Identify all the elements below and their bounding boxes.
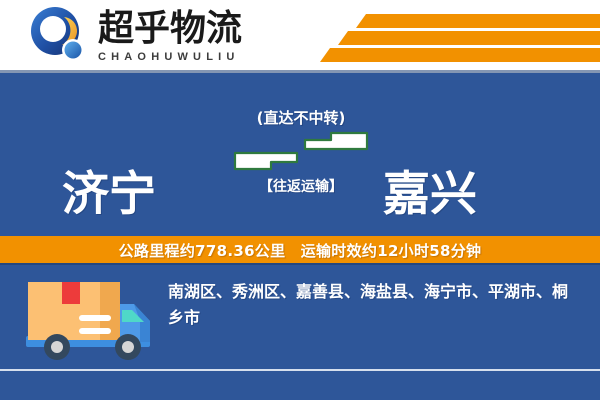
round-trip-note: 【往返运输】 (228, 179, 374, 196)
destination-city: 嘉兴 (383, 169, 477, 221)
delivery-truck-icon (22, 274, 162, 369)
brand-name-en: CHAOHUWULIU (98, 50, 242, 64)
circle-q-logo-icon (28, 5, 90, 67)
coverage-areas-text: 南湖区、秀洲区、嘉善县、海盐县、海宁市、平湖市、桐乡市 (168, 279, 580, 331)
route-arrow-group: (直达不中转) 【往返运输】 (228, 109, 374, 219)
brand-logo-text: 超乎物流 CHAOHUWULIU (98, 9, 242, 64)
bottom-divider (0, 369, 600, 371)
banner-header: 超乎物流 CHAOHUWULIU (0, 0, 600, 73)
brand-name-cn: 超乎物流 (98, 9, 242, 49)
brand-logo: 超乎物流 CHAOHUWULIU (28, 5, 242, 67)
direct-route-note: (直达不中转) (228, 109, 374, 127)
route-section: 济宁 (直达不中转) 【往返运输】 嘉兴 (0, 73, 600, 236)
coverage-section: 南湖区、秀洲区、嘉善县、海盐县、海宁市、平湖市、桐乡市 (0, 265, 600, 400)
origin-city: 济宁 (62, 169, 156, 221)
logistics-route-banner: 超乎物流 CHAOHUWULIU 济宁 (直达不中转) 【往返运输】 (0, 0, 600, 400)
route-info-bar: 公路里程约778.36公里 运输时效约12小时58分钟 (0, 236, 600, 265)
double-headed-arrow-icon (228, 131, 374, 173)
orange-speed-stripes-icon (300, 6, 600, 68)
route-info-text: 公路里程约778.36公里 运输时效约12小时58分钟 (119, 241, 482, 261)
